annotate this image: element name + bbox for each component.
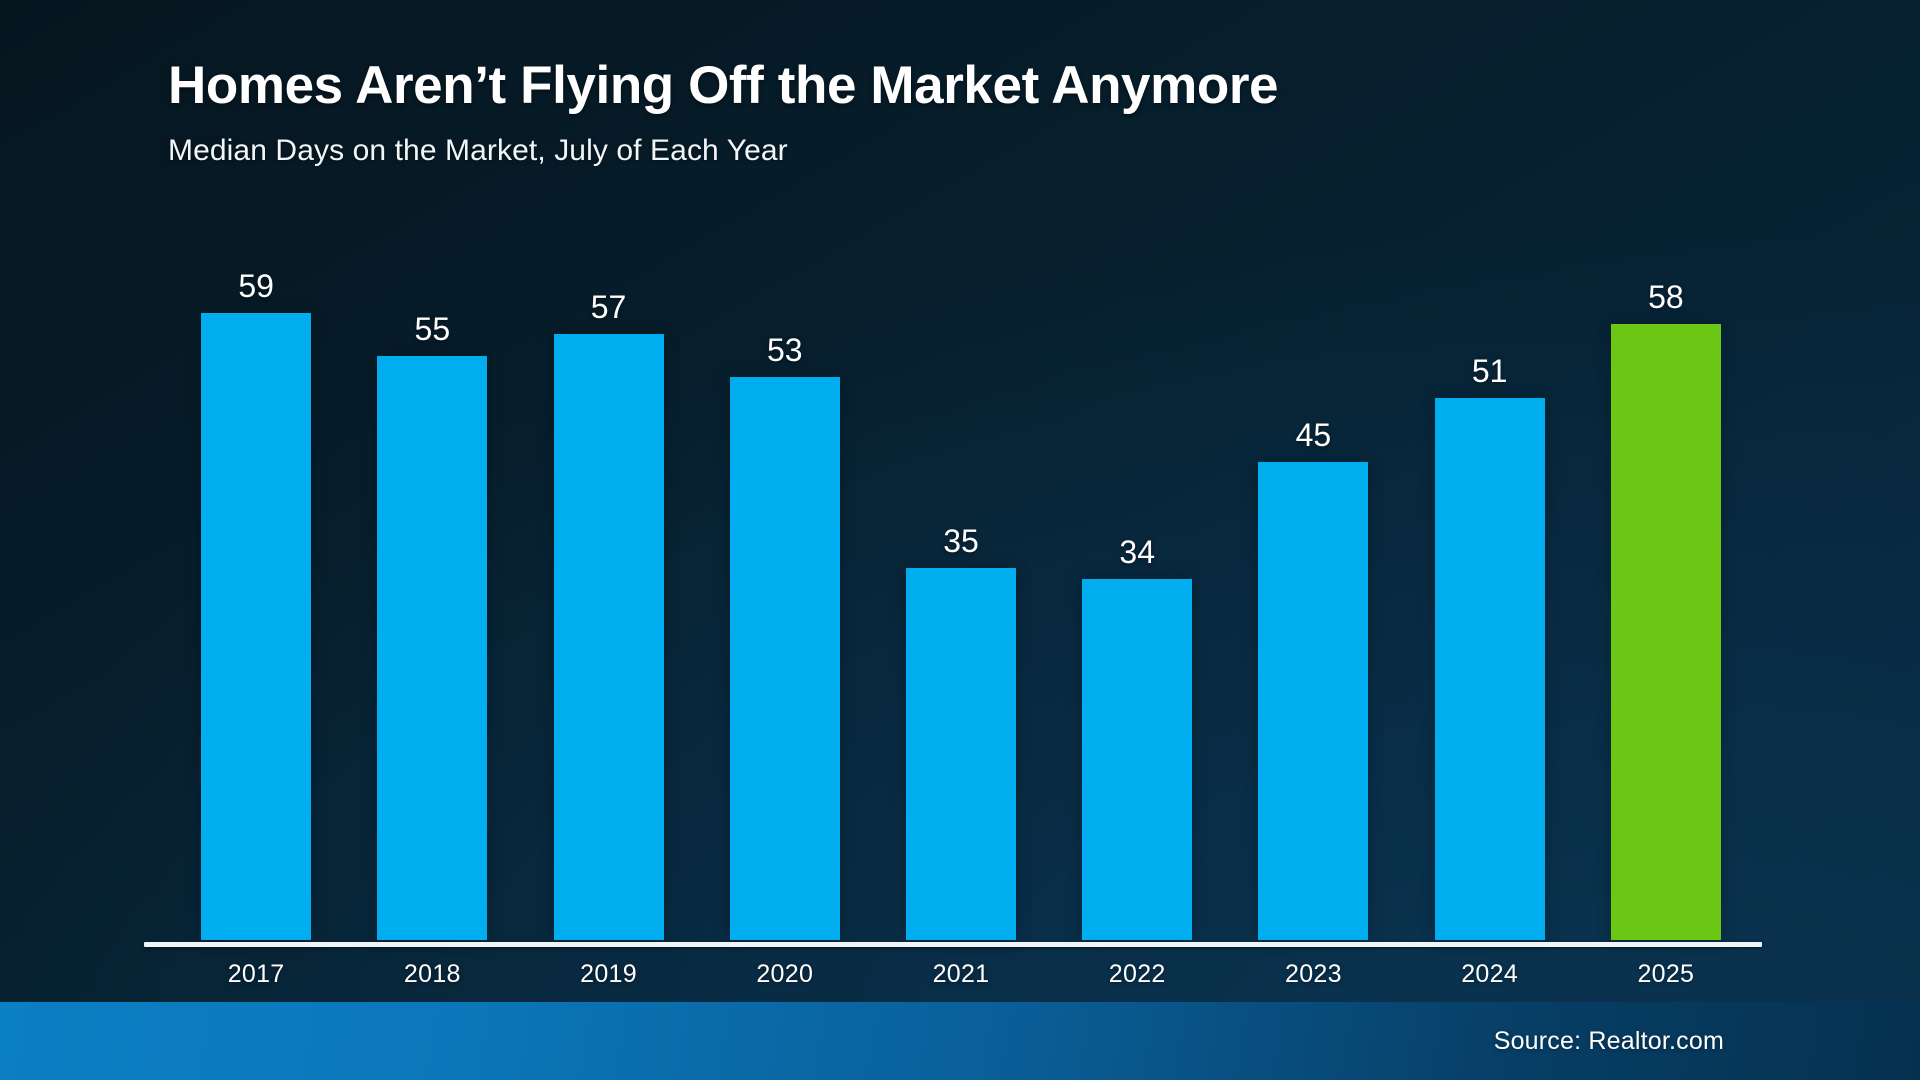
bar-value-label: 51 [1472,355,1508,387]
page-title: Homes Aren’t Flying Off the Market Anymo… [168,58,1278,114]
bar-2017[interactable] [201,313,311,940]
bar-chart-plot-area: 595557533534455158 [168,250,1754,940]
bar-value-label: 45 [1296,419,1332,451]
footer-bar: Source: Realtor.com [0,1002,1920,1080]
x-tick-2017: 2017 [168,960,344,989]
bar-2022[interactable] [1082,579,1192,940]
bar-value-label: 59 [238,270,274,302]
bar-group-2019[interactable]: 57 [520,250,696,940]
bar-value-label: 58 [1648,281,1684,313]
bar-group-2017[interactable]: 59 [168,250,344,940]
bar-value-label: 35 [943,525,979,557]
bar-2018[interactable] [377,356,487,940]
bar-value-label: 55 [415,313,451,345]
bar-series: 595557533534455158 [168,250,1754,940]
x-tick-2019: 2019 [520,960,696,989]
x-axis-tick-labels: 201720182019202020212022202320242025 [168,960,1754,989]
bar-2021[interactable] [906,568,1016,940]
bar-value-label: 57 [591,291,627,323]
x-axis-line [144,942,1762,947]
bar-group-2023[interactable]: 45 [1225,250,1401,940]
x-tick-2018: 2018 [344,960,520,989]
x-tick-2025: 2025 [1578,960,1754,989]
x-tick-2020: 2020 [697,960,873,989]
bar-group-2025[interactable]: 58 [1578,250,1754,940]
bar-2020[interactable] [730,377,840,940]
bar-group-2021[interactable]: 35 [873,250,1049,940]
bar-2024[interactable] [1435,398,1545,940]
bar-group-2020[interactable]: 53 [697,250,873,940]
bar-value-label: 34 [1119,536,1155,568]
bar-group-2022[interactable]: 34 [1049,250,1225,940]
header: Homes Aren’t Flying Off the Market Anymo… [168,58,1278,168]
chart-subtitle: Median Days on the Market, July of Each … [168,134,1278,168]
x-tick-2021: 2021 [873,960,1049,989]
bar-2025[interactable] [1611,324,1721,940]
x-tick-2024: 2024 [1402,960,1578,989]
bar-group-2024[interactable]: 51 [1402,250,1578,940]
chart-slide: Homes Aren’t Flying Off the Market Anymo… [0,0,1920,1080]
bar-2019[interactable] [554,334,664,940]
x-tick-2023: 2023 [1225,960,1401,989]
bar-group-2018[interactable]: 55 [344,250,520,940]
source-attribution: Source: Realtor.com [1494,1027,1724,1056]
bar-2023[interactable] [1258,462,1368,940]
x-tick-2022: 2022 [1049,960,1225,989]
bar-value-label: 53 [767,334,803,366]
